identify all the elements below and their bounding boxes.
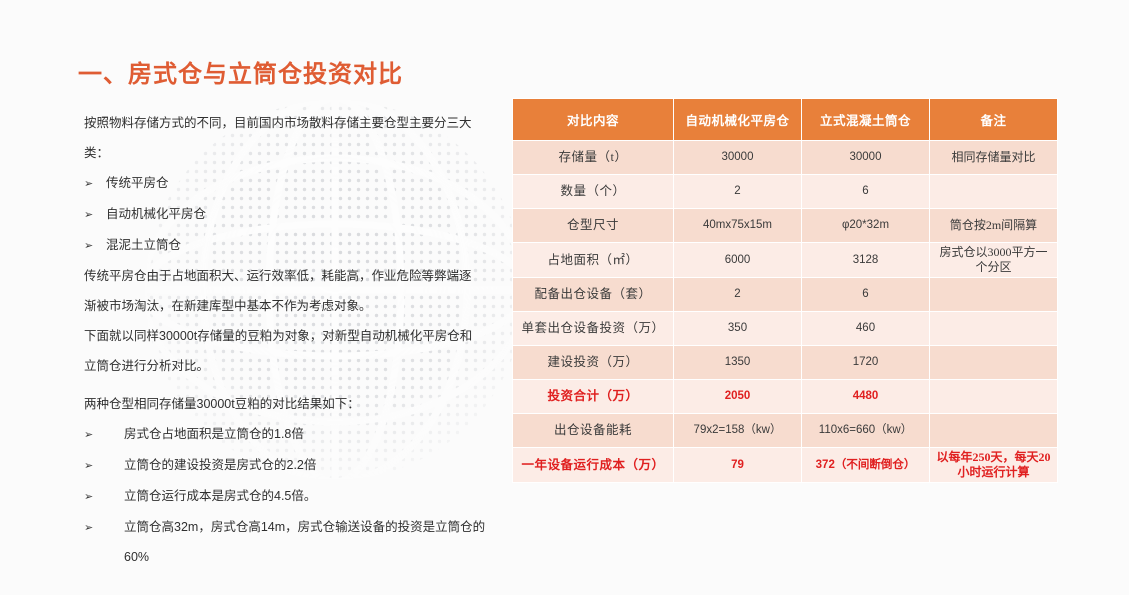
- row-label-cell: 出仓设备能耗: [513, 414, 674, 448]
- arrow-bullet-icon: ➢: [84, 231, 106, 261]
- intro-paragraph-line1: 按照物料存储方式的不同，目前国内市场散料存储主要仓型主要分三大: [84, 108, 496, 138]
- column-header-item: 对比内容: [513, 99, 674, 141]
- table-row: 建设投资（万）13501720: [513, 346, 1058, 380]
- value-cell-flat-warehouse: 2: [674, 278, 802, 312]
- value-cell-flat-warehouse: 30000: [674, 141, 802, 175]
- value-cell-flat-warehouse: 2: [674, 175, 802, 209]
- list-item-conclusion-1: ➢ 房式仓占地面积是立筒仓的1.8倍: [84, 419, 496, 450]
- row-label-cell: 投资合计（万）: [513, 380, 674, 414]
- table-row: 占地面积（㎡）60003128房式仓以3000平方一个分区: [513, 243, 1058, 278]
- remark-cell: [930, 414, 1058, 448]
- value-cell-silo: 372（不间断倒仓）: [802, 448, 930, 483]
- list-item-type-1: ➢ 传统平房仓: [84, 168, 496, 199]
- list-item-label: 立筒仓高32m，房式仓高14m，房式仓输送设备的投资是立筒仓的60%: [124, 512, 496, 572]
- list-item-conclusion-3: ➢ 立筒仓运行成本是房式仓的4.5倍。: [84, 481, 496, 512]
- remark-cell: [930, 278, 1058, 312]
- list-item-label: 传统平房仓: [106, 168, 496, 198]
- list-item-conclusion-2: ➢ 立筒仓的建设投资是房式仓的2.2倍: [84, 450, 496, 481]
- remark-cell: [930, 312, 1058, 346]
- list-item-label: 立筒仓的建设投资是房式仓的2.2倍: [124, 450, 496, 480]
- value-cell-silo: 110x6=660（kw）: [802, 414, 930, 448]
- value-cell-silo: 6: [802, 278, 930, 312]
- value-cell-silo: 3128: [802, 243, 930, 278]
- row-label-cell: 单套出仓设备投资（万）: [513, 312, 674, 346]
- paragraph-3-line1: 下面就以同样30000t存储量的豆粕为对象，对新型自动机械化平房仓和: [84, 321, 496, 351]
- page-title: 一、房式仓与立筒仓投资对比: [78, 54, 403, 89]
- list-item-type-3: ➢ 混泥土立筒仓: [84, 230, 496, 261]
- table-row: 单套出仓设备投资（万）350460: [513, 312, 1058, 346]
- row-label-cell: 一年设备运行成本（万）: [513, 448, 674, 483]
- left-text-column: 按照物料存储方式的不同，目前国内市场散料存储主要仓型主要分三大 类： ➢ 传统平…: [84, 108, 496, 572]
- value-cell-flat-warehouse: 2050: [674, 380, 802, 414]
- value-cell-flat-warehouse: 79x2=158（kw）: [674, 414, 802, 448]
- row-label-cell: 数量（个）: [513, 175, 674, 209]
- remark-cell: [930, 380, 1058, 414]
- column-header-flat-warehouse: 自动机械化平房仓: [674, 99, 802, 141]
- remark-cell: 相同存储量对比: [930, 141, 1058, 175]
- arrow-bullet-icon: ➢: [84, 200, 106, 230]
- value-cell-flat-warehouse: 40mx75x15m: [674, 209, 802, 243]
- paragraph-2-line1: 传统平房仓由于占地面积大、运行效率低，耗能高，作业危险等弊端逐: [84, 261, 496, 291]
- list-item-conclusion-4: ➢ 立筒仓高32m，房式仓高14m，房式仓输送设备的投资是立筒仓的60%: [84, 512, 496, 572]
- list-item-label: 立筒仓运行成本是房式仓的4.5倍。: [124, 481, 496, 511]
- paragraph-spacer: [84, 381, 496, 389]
- column-header-silo: 立式混凝土筒仓: [802, 99, 930, 141]
- arrow-bullet-icon: ➢: [84, 482, 124, 512]
- list-item-label: 房式仓占地面积是立筒仓的1.8倍: [124, 419, 496, 449]
- arrow-bullet-icon: ➢: [84, 169, 106, 199]
- list-item-type-2: ➢ 自动机械化平房仓: [84, 199, 496, 230]
- remark-cell: 房式仓以3000平方一个分区: [930, 243, 1058, 278]
- table-row: 数量（个）26: [513, 175, 1058, 209]
- row-label-cell: 配备出仓设备（套）: [513, 278, 674, 312]
- row-label-cell: 建设投资（万）: [513, 346, 674, 380]
- paragraph-4: 两种仓型相同存储量30000t豆粕的对比结果如下：: [84, 389, 496, 419]
- arrow-bullet-icon: ➢: [84, 513, 124, 543]
- paragraph-2-line2: 渐被市场淘汰，在新建库型中基本不作为考虑对象。: [84, 291, 496, 321]
- arrow-bullet-icon: ➢: [84, 451, 124, 481]
- row-label-cell: 仓型尺寸: [513, 209, 674, 243]
- list-item-label: 自动机械化平房仓: [106, 199, 496, 229]
- table-row: 投资合计（万）20504480: [513, 380, 1058, 414]
- value-cell-flat-warehouse: 350: [674, 312, 802, 346]
- remark-cell: 以每年250天，每天20小时运行计算: [930, 448, 1058, 483]
- value-cell-silo: 4480: [802, 380, 930, 414]
- intro-paragraph-line2: 类：: [84, 138, 496, 168]
- value-cell-silo: φ20*32m: [802, 209, 930, 243]
- table-header-row: 对比内容 自动机械化平房仓 立式混凝土筒仓 备注: [513, 99, 1058, 141]
- table-row: 仓型尺寸40mx75x15mφ20*32m筒仓按2m间隔算: [513, 209, 1058, 243]
- remark-cell: [930, 175, 1058, 209]
- table-row: 出仓设备能耗79x2=158（kw）110x6=660（kw）: [513, 414, 1058, 448]
- column-header-remark: 备注: [930, 99, 1058, 141]
- row-label-cell: 存储量（t）: [513, 141, 674, 175]
- table-body: 存储量（t）3000030000相同存储量对比数量（个）26仓型尺寸40mx75…: [513, 141, 1058, 483]
- value-cell-silo: 460: [802, 312, 930, 346]
- value-cell-silo: 6: [802, 175, 930, 209]
- remark-cell: 筒仓按2m间隔算: [930, 209, 1058, 243]
- table-row: 一年设备运行成本（万）79372（不间断倒仓）以每年250天，每天20小时运行计…: [513, 448, 1058, 483]
- value-cell-flat-warehouse: 79: [674, 448, 802, 483]
- comparison-table: 对比内容 自动机械化平房仓 立式混凝土筒仓 备注 存储量（t）300003000…: [512, 98, 1058, 483]
- table-row: 配备出仓设备（套）26: [513, 278, 1058, 312]
- list-item-label: 混泥土立筒仓: [106, 230, 496, 260]
- paragraph-3-line2: 立筒仓进行分析对比。: [84, 351, 496, 381]
- remark-cell: [930, 346, 1058, 380]
- value-cell-flat-warehouse: 6000: [674, 243, 802, 278]
- value-cell-silo: 1720: [802, 346, 930, 380]
- row-label-cell: 占地面积（㎡）: [513, 243, 674, 278]
- value-cell-silo: 30000: [802, 141, 930, 175]
- arrow-bullet-icon: ➢: [84, 420, 124, 450]
- value-cell-flat-warehouse: 1350: [674, 346, 802, 380]
- table-row: 存储量（t）3000030000相同存储量对比: [513, 141, 1058, 175]
